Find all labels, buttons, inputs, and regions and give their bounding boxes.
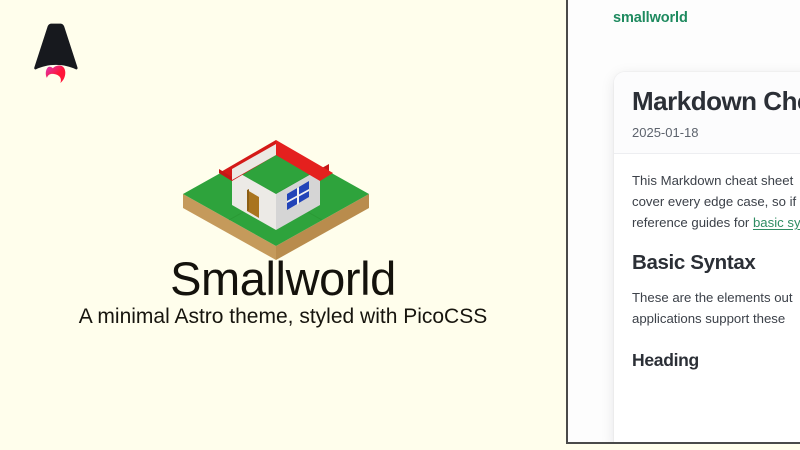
intro-line-3-prefix: reference guides for	[632, 215, 753, 230]
hero-panel: Smallworld A minimal Astro theme, styled…	[0, 0, 566, 450]
page-title: Smallworld	[0, 252, 566, 306]
article-card-header: Markdown Cheat Sheet 2025-01-18	[614, 72, 800, 154]
basic-syntax-paragraph: These are the elements out applications …	[632, 287, 800, 329]
astro-logo	[30, 22, 82, 84]
article-intro-paragraph: This Markdown cheat sheet cover every ed…	[632, 170, 800, 233]
section-heading-basic-syntax: Basic Syntax	[632, 250, 800, 276]
article-date: 2025-01-18	[632, 124, 800, 141]
article-card: Markdown Cheat Sheet 2025-01-18 This Mar…	[614, 72, 800, 442]
site-nav: smallworld	[613, 9, 800, 27]
nav-brand-link[interactable]: smallworld	[613, 10, 688, 26]
basic-syntax-line-2: applications support these	[632, 311, 785, 326]
article-title: Markdown Cheat Sheet	[632, 86, 800, 117]
screenshot-root: Smallworld A minimal Astro theme, styled…	[0, 0, 800, 450]
article-card-body: This Markdown cheat sheet cover every ed…	[614, 154, 800, 402]
isometric-house-illustration	[181, 128, 371, 260]
preview-viewport: smallworld Markdown Cheat Sheet 2025-01-…	[568, 0, 800, 442]
page-subtitle: A minimal Astro theme, styled with PicoC…	[0, 303, 566, 331]
basic-syntax-link[interactable]: basic syntax	[753, 215, 800, 230]
intro-line-1: This Markdown cheat sheet	[632, 173, 793, 188]
section-heading-heading: Heading	[632, 349, 800, 372]
intro-line-2: cover every edge case, so if	[632, 194, 796, 209]
basic-syntax-line-1: These are the elements out	[632, 290, 793, 305]
theme-preview-frame: smallworld Markdown Cheat Sheet 2025-01-…	[566, 0, 800, 444]
